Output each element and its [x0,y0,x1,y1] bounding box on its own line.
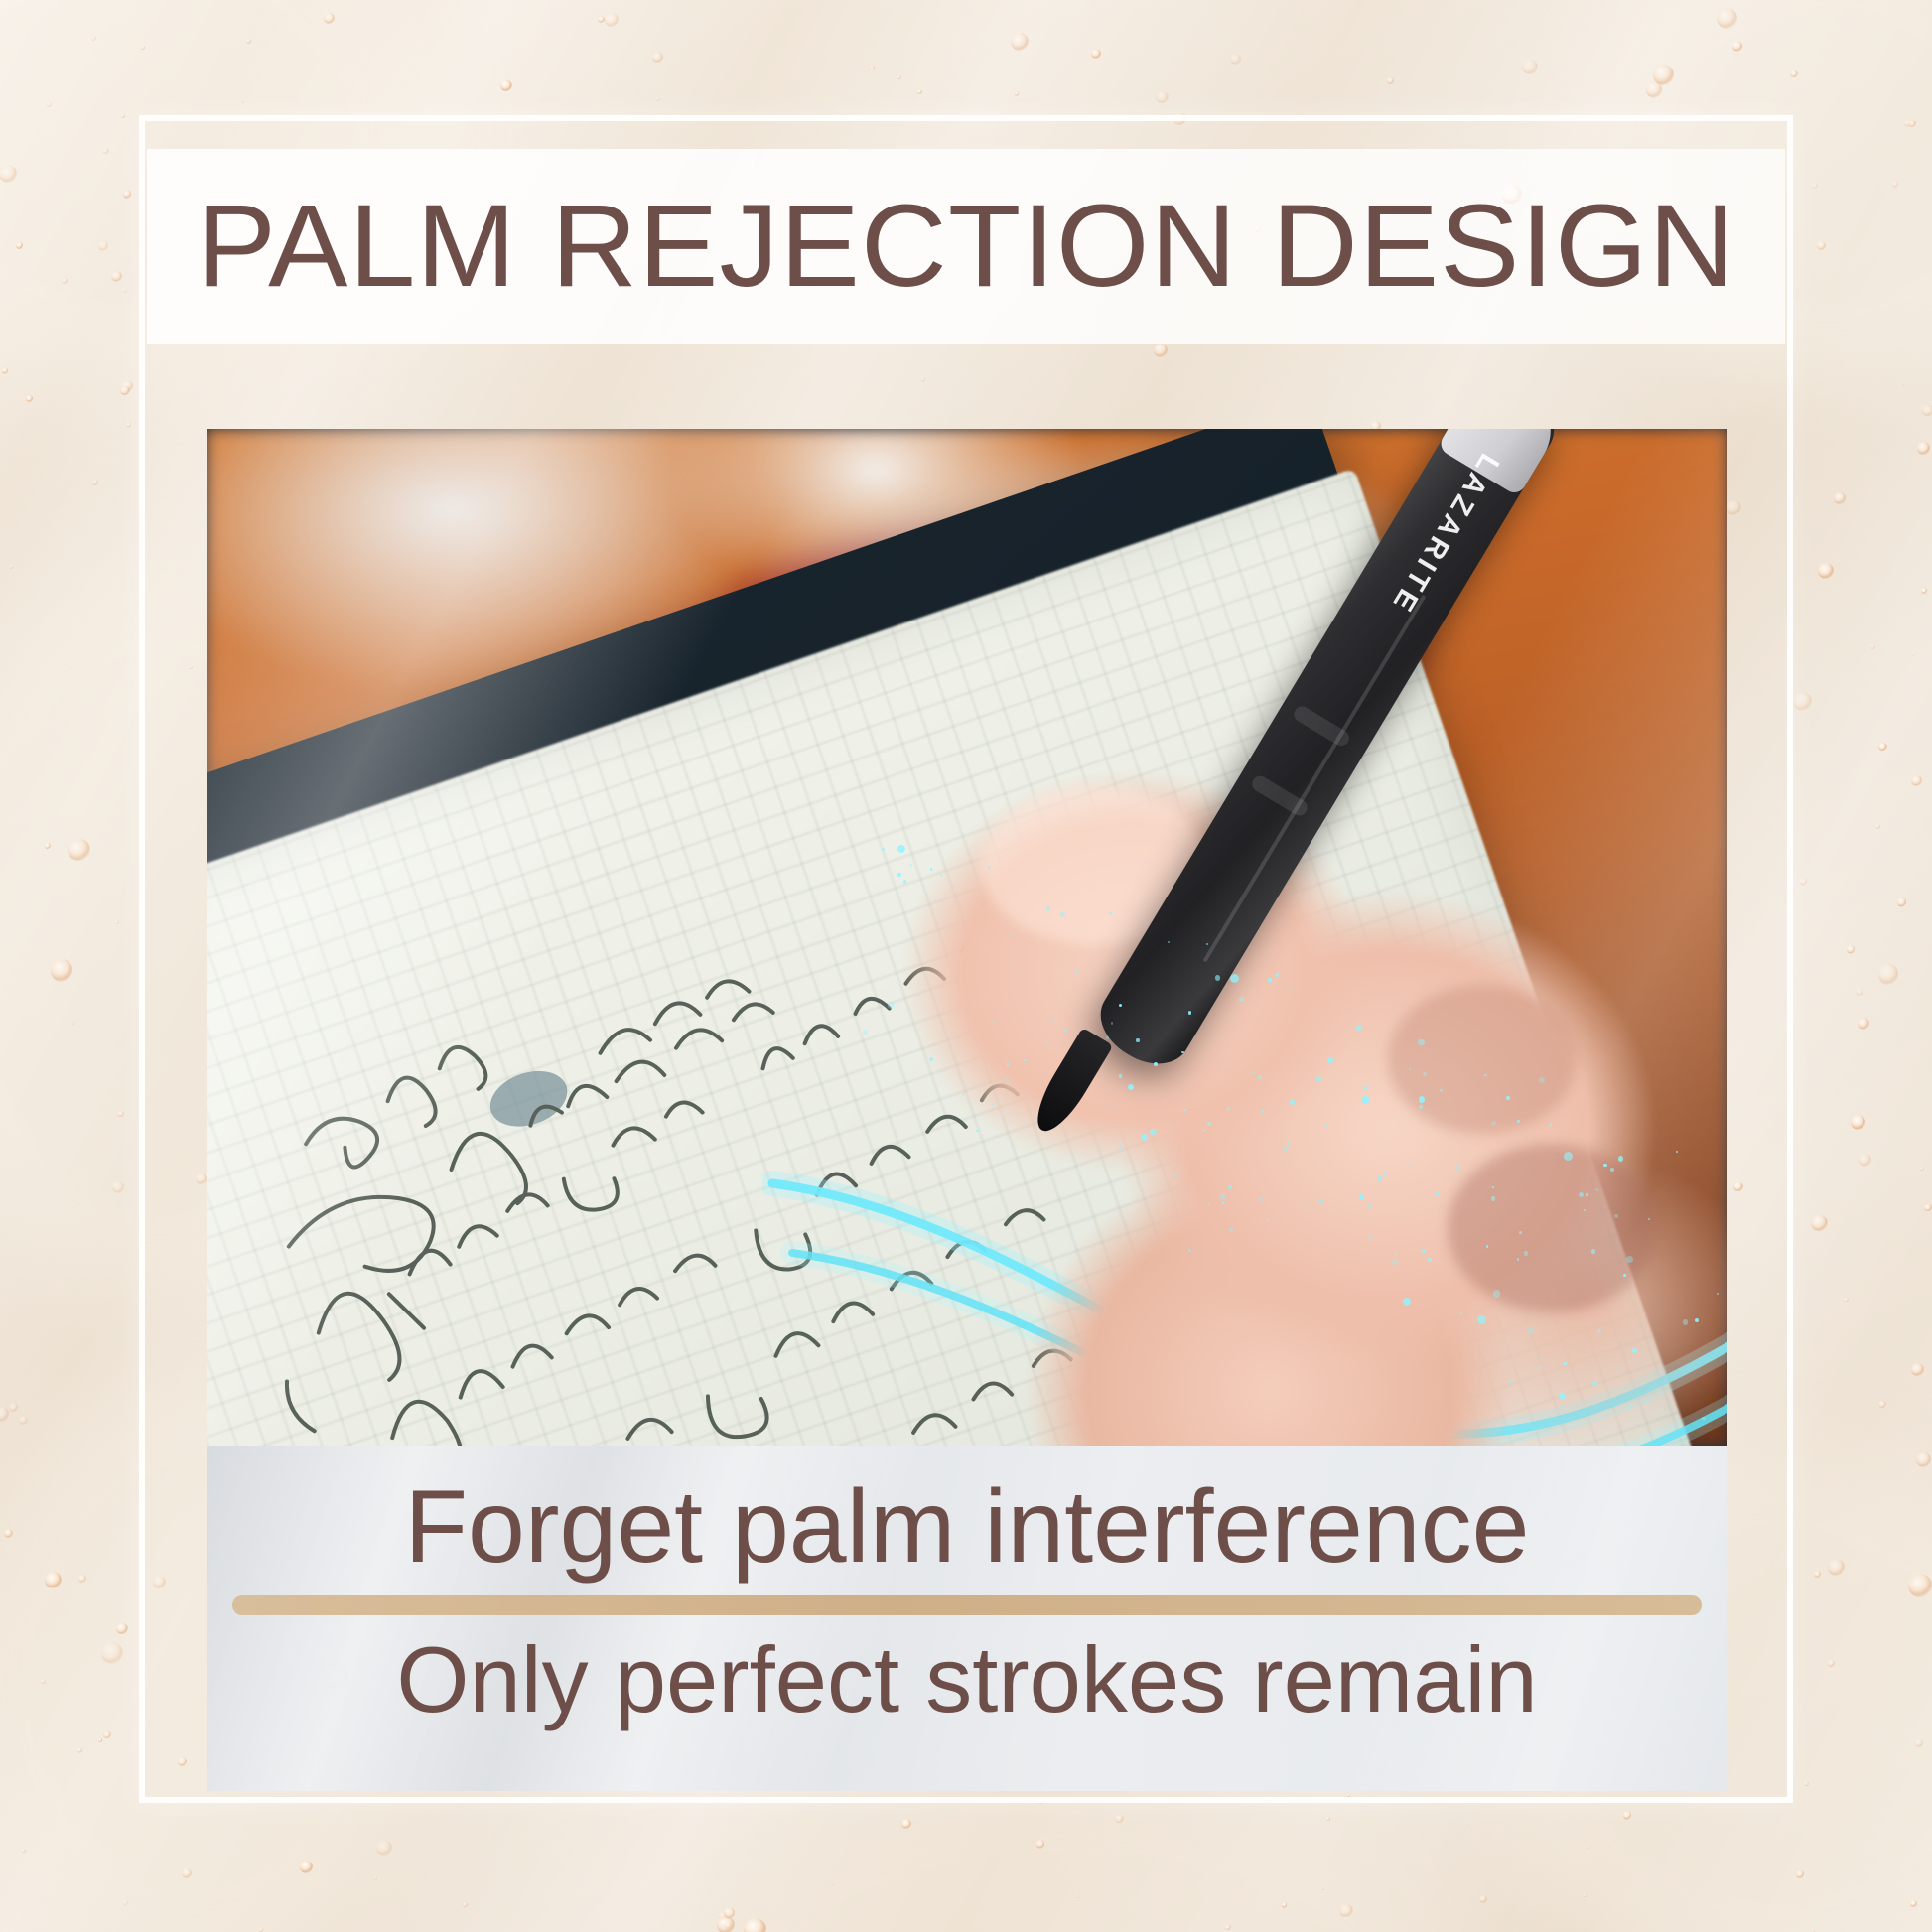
glitter-speck [1915,1739,1923,1747]
glitter-speck [1856,988,1863,996]
glitter-speck [1653,65,1674,85]
glitter-speck [1912,652,1916,656]
glitter-speck [10,565,13,568]
glitter-speck [115,920,119,924]
glitter-speck [1878,1401,1885,1408]
glitter-speck [1851,757,1854,759]
glitter-speck [126,422,132,428]
glitter-speck [102,148,108,154]
glitter-speck [719,1912,727,1920]
glitter-speck [830,1883,833,1886]
glitter-speck [901,1819,911,1829]
glitter-speck [1011,33,1029,51]
glitter-speck [1859,1154,1871,1167]
glitter-speck [98,240,109,251]
glitter-speck [1732,41,1743,52]
glitter-speck [259,1928,263,1932]
glitter-speck [917,89,922,94]
glitter-speck [1522,60,1537,74]
glitter-speck [1623,1811,1631,1819]
glitter-speck [1339,1904,1353,1918]
glitter-speck [1921,588,1927,594]
glitter-speck [1828,1559,1845,1576]
glitter-speck [717,1916,735,1932]
glitter-speck [1892,181,1898,187]
glitter-speck [1091,49,1101,59]
glitter-speck [103,1731,111,1739]
glitter-speck [1858,1018,1869,1030]
glitter-speck [1282,1902,1288,1908]
glitter-speck [123,190,132,199]
caption-band: Forget palm interference Only perfect st… [207,1446,1727,1791]
glitter-speck [1646,81,1662,97]
poster-canvas: PALM REJECTION DESIGN [0,0,1932,1932]
glitter-speck [26,395,33,402]
glitter-speck [112,1181,124,1193]
glitter-speck [1800,878,1808,886]
glitter-speck [1878,743,1887,752]
glitter-speck [77,1747,83,1753]
glitter-speck [652,52,662,62]
glitter-speck [1225,1925,1230,1930]
glitter-speck [656,97,660,101]
glitter-speck [78,1575,85,1582]
glitter-speck [2,367,8,373]
glitter-speck [724,1907,735,1918]
glitter-speck [1793,692,1812,711]
glitter-speck [324,13,335,24]
glitter-speck [1326,1817,1330,1821]
glitter-speck [1844,1298,1849,1303]
glitter-speck [1875,824,1880,829]
glitter-speck [51,959,73,982]
glitter-speck [1587,1845,1590,1848]
glitter-speck [91,36,95,40]
glitter-speck [1828,1660,1835,1667]
glitter-speck [1901,383,1904,386]
glitter-speck [1870,644,1875,649]
glitter-speck [45,843,51,849]
glitter-speck [1910,1900,1917,1907]
glitter-speck [1804,1782,1808,1786]
glitter-speck [500,80,511,91]
header-band: PALM REJECTION DESIGN [147,149,1785,344]
glitter-speck [1075,1895,1079,1899]
glitter-speck [98,1738,102,1742]
glitter-speck [1230,54,1241,65]
glitter-speck [1924,1204,1932,1212]
glitter-speck [1717,8,1737,29]
glitter-speck [1814,1571,1820,1577]
glitter-speck [9,1403,18,1412]
glitter-speck [1916,1452,1931,1467]
glitter-speck [1847,945,1856,954]
glitter-speck [241,100,244,103]
caption-subheadline: Only perfect strokes remain [396,1631,1537,1729]
glitter-speck [373,1876,377,1880]
glitter-speck [41,1679,46,1684]
glitter-speck [120,386,129,395]
caption-headline: Forget palm interference [405,1473,1530,1582]
glitter-speck [605,13,620,28]
glitter-speck [92,480,98,485]
glitter-speck [897,75,900,78]
caption-divider [232,1595,1702,1615]
glitter-speck [71,1021,74,1024]
glitter-speck [1897,897,1906,906]
glitter-speck [121,114,125,118]
glitter-speck [117,1111,123,1117]
glitter-speck [598,16,605,23]
glitter-speck [123,288,127,292]
glitter-speck [1878,964,1898,984]
product-photo: LAZARITE [207,429,1727,1446]
glitter-speck [0,1407,9,1422]
glitter-speck [101,1642,123,1664]
glitter-speck [1817,241,1826,250]
glitter-speck [62,278,68,284]
glitter-speck [68,839,89,861]
glitter-speck [1908,120,1915,127]
glitter-speck [182,1868,192,1878]
glitter-speck [1851,1115,1865,1130]
knuckle-shadow [1388,985,1577,1134]
glitter-speck [725,1922,732,1929]
glitter-speck [1387,77,1394,84]
glitter-speck [16,242,23,249]
glitter-speck [1796,1870,1804,1878]
glitter-speck [1818,563,1835,580]
glitter-speck [45,1572,62,1588]
glitter-speck [19,1416,28,1425]
glitter-speck [376,1840,392,1856]
glitter-speck [870,66,875,70]
glitter-speck [1922,405,1932,416]
glitter-speck [1911,1363,1924,1376]
glitter-speck [1812,183,1818,189]
glitter-speck [300,1861,313,1873]
glitter-speck [1811,1215,1828,1232]
glitter-speck [1015,91,1019,95]
glitter-speck [246,39,251,44]
page-title: PALM REJECTION DESIGN [197,188,1736,305]
glitter-speck [1479,1895,1487,1903]
glitter-speck [1790,70,1798,78]
glitter-speck [0,165,17,183]
glitter-speck [22,1849,26,1853]
glitter-speck [1834,492,1845,503]
glitter-speck [141,46,145,50]
glitter-speck [1156,91,1169,104]
glitter-speck [1115,1815,1124,1824]
glitter-speck [744,1918,766,1932]
glitter-speck [1036,1840,1045,1849]
glitter-speck [1917,442,1930,455]
glitter-speck [1904,119,1911,126]
glitter-speck [1920,1167,1925,1172]
glitter-speck [116,1623,127,1634]
glitter-speck [463,1902,468,1907]
glitter-speck [121,380,133,392]
glitter-speck [1911,775,1922,786]
glitter-speck [123,1900,129,1906]
glitter-speck [111,271,122,282]
glitter-speck [1583,1893,1587,1898]
glitter-speck [1321,1887,1324,1890]
glitter-speck [47,102,52,107]
glitter-speck [4,1529,13,1538]
glitter-speck [1908,1574,1932,1597]
knuckle-shadow [1448,1144,1656,1312]
